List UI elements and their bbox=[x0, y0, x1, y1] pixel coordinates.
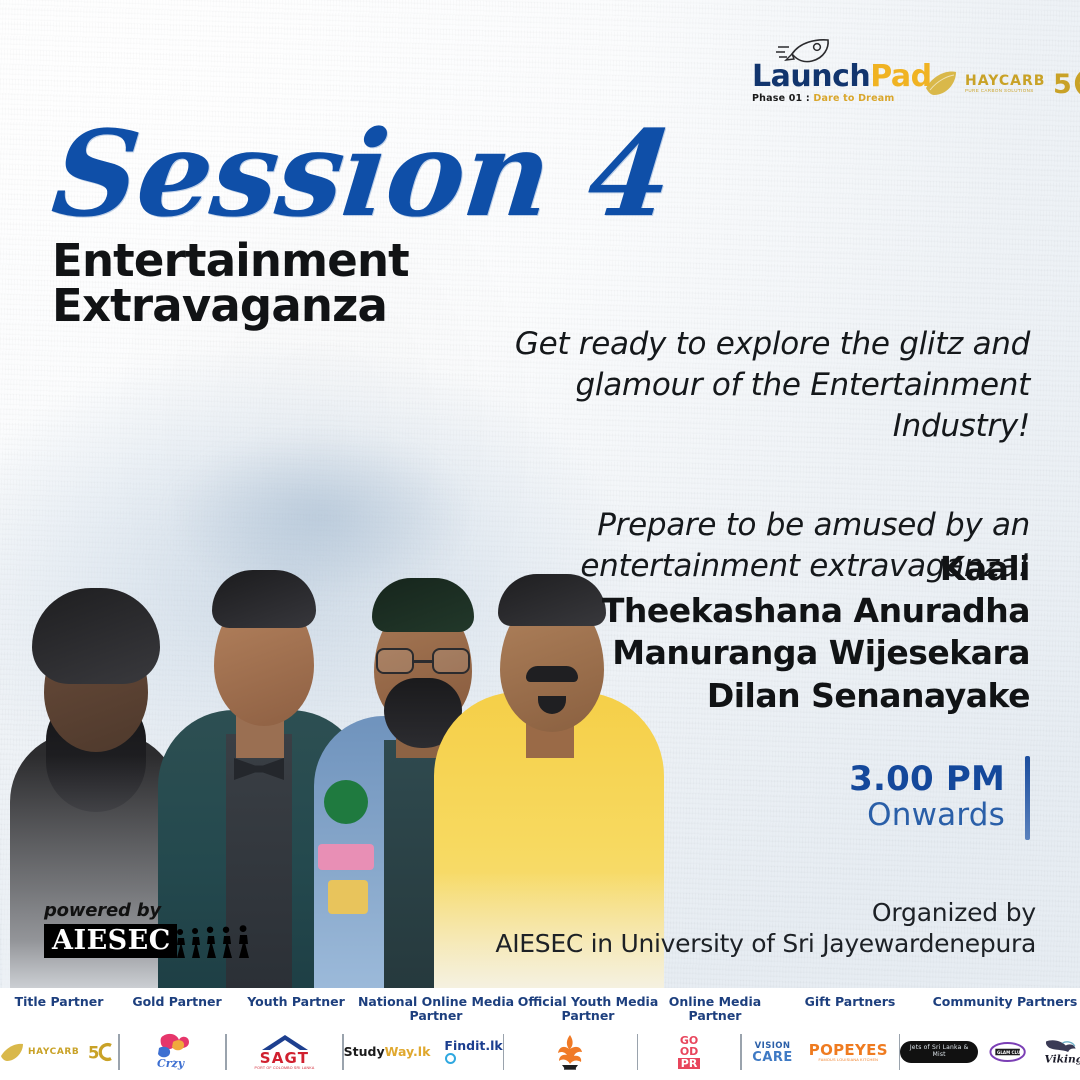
vision-care-word-2: CARE bbox=[752, 1051, 793, 1064]
aiesec-logo: AIESEC bbox=[44, 924, 274, 958]
glam-club-logo: GLAM CLUB bbox=[988, 1039, 1027, 1065]
partner-logos-gift: VISION CARE POPEYES FAMOUS LOUISIANA KIT… bbox=[742, 1028, 899, 1076]
haycarb-50-icon: 5 bbox=[1052, 65, 1080, 101]
haycarb-logo-footer: HAYCARB bbox=[0, 1042, 79, 1062]
haycarb-tagline: PURE CARBON SOLUTIONS bbox=[965, 88, 1045, 93]
speaker-name: Theekashana Anuradha bbox=[430, 590, 1030, 632]
partner-logos-gold: Crzy bbox=[120, 1028, 226, 1076]
speaker-name-list: Kaali Theekashana Anuradha Manuranga Wij… bbox=[430, 548, 1030, 717]
launchpad-logo: LaunchPad Phase 01 : Dare to Dream bbox=[752, 62, 904, 104]
header-logo-bar: LaunchPad Phase 01 : Dare to Dream HAYCA… bbox=[752, 52, 1052, 114]
haycarb-50-icon-footer: 5 bbox=[88, 1039, 118, 1065]
popeyes-tagline: FAMOUS LOUISIANA KITCHEN bbox=[809, 1058, 888, 1062]
event-time-block: 3.00 PM Onwards bbox=[849, 756, 1030, 840]
time-accent-bar bbox=[1025, 756, 1030, 840]
svg-text:GLAM CLUB: GLAM CLUB bbox=[997, 1050, 1023, 1055]
svg-text:Crzy: Crzy bbox=[157, 1057, 186, 1070]
goodpr-line-3: PR bbox=[678, 1058, 701, 1069]
partner-label-official-youth: Official Youth Media Partner bbox=[516, 992, 660, 1024]
page-title: Session 4 bbox=[48, 118, 700, 230]
svg-text:5: 5 bbox=[88, 1044, 99, 1063]
organized-by-label: Organized by bbox=[416, 898, 1036, 928]
partner-label-online-media: Online Media Partner bbox=[660, 992, 770, 1024]
crazy-logo: Crzy bbox=[151, 1032, 193, 1072]
partner-label-community: Community Partners bbox=[930, 992, 1080, 1009]
tagline-one: Get ready to explore the glitz and glamo… bbox=[430, 324, 1030, 447]
partner-logos-national-media: StudyWay.lk Findit.lk bbox=[344, 1028, 503, 1076]
partner-label-title: Title Partner bbox=[0, 992, 118, 1009]
partner-label-youth: Youth Partner bbox=[236, 992, 356, 1009]
tagline-one-line-2: glamour of the Entertainment Industry! bbox=[430, 365, 1030, 447]
partner-label-gold: Gold Partner bbox=[118, 992, 236, 1009]
goodpr-logo: GO OD PR bbox=[678, 1035, 701, 1069]
partner-logos-community: Jets of Sri Lanka & Mist GLAM CLUB Vikin… bbox=[900, 1028, 1080, 1076]
title-block: Session 4 Entertainment Extravaganza bbox=[48, 118, 688, 328]
partner-logos-youth: SAGT PORT OF COLOMBO SRI LANKA bbox=[227, 1028, 342, 1076]
magnifier-icon bbox=[445, 1053, 456, 1064]
sagt-wordmark: SAGT bbox=[255, 1051, 315, 1066]
speaker-name: Kaali bbox=[430, 548, 1030, 590]
vision-care-logo: VISION CARE bbox=[752, 1041, 793, 1064]
studyway-word-1: Study bbox=[344, 1044, 385, 1059]
poster-canvas: LaunchPad Phase 01 : Dare to Dream HAYCA… bbox=[0, 0, 1080, 1080]
partner-logo-row: HAYCARB 5 Crzy bbox=[0, 1024, 1080, 1080]
vision-care-word-1: VISION bbox=[752, 1041, 793, 1051]
vikings-logo: Vikings bbox=[1038, 1035, 1080, 1069]
findit-wordmark: Findit.lk bbox=[444, 1038, 502, 1053]
lanka-mist-logo: Jets of Sri Lanka & Mist bbox=[900, 1041, 978, 1062]
aiesec-people-icon bbox=[173, 924, 257, 958]
studyway-word-2: Way.lk bbox=[385, 1044, 431, 1059]
launchpad-word-launch: Launch bbox=[752, 59, 870, 94]
popeyes-logo: POPEYES FAMOUS LOUISIANA KITCHEN bbox=[809, 1043, 888, 1062]
aiesec-wordmark: AIESEC bbox=[44, 924, 177, 958]
rocket-icon bbox=[776, 38, 836, 64]
partner-footer: Title Partner Gold Partner Youth Partner… bbox=[0, 988, 1080, 1080]
haycarb-wordmark-footer: HAYCARB bbox=[28, 1047, 79, 1057]
findit-logo: Findit.lk bbox=[444, 1040, 502, 1065]
sagt-tagline: PORT OF COLOMBO SRI LANKA bbox=[255, 1066, 315, 1070]
svg-text:Vikings: Vikings bbox=[1044, 1053, 1080, 1066]
powered-by-block: powered by AIESEC bbox=[44, 900, 274, 958]
haycarb-leaf-icon bbox=[0, 1042, 24, 1062]
event-time-onwards: Onwards bbox=[849, 798, 1005, 834]
speaker-name: Dilan Senanayake bbox=[430, 675, 1030, 717]
haycarb-wordmark: HAYCARB bbox=[965, 74, 1045, 88]
haycarb-logo: HAYCARB PURE CARBON SOLUTIONS 5 bbox=[924, 65, 1080, 101]
page-subtitle: Entertainment Extravaganza bbox=[52, 238, 688, 328]
tagline-two-line-1: Prepare to be amused by an bbox=[430, 505, 1030, 546]
partner-label-gift: Gift Partners bbox=[770, 992, 930, 1009]
event-time: 3.00 PM bbox=[849, 762, 1005, 798]
launchpad-tagline: Dare to Dream bbox=[813, 93, 894, 104]
partner-label-national-media: National Online Media Partner bbox=[356, 992, 516, 1024]
organizer-name: AIESEC in University of Sri Jayewardenep… bbox=[416, 928, 1036, 959]
partner-label-row: Title Partner Gold Partner Youth Partner… bbox=[0, 992, 1080, 1026]
svg-text:5: 5 bbox=[1053, 69, 1072, 100]
phoenix-logo bbox=[550, 1032, 590, 1072]
partner-logos-title: HAYCARB 5 bbox=[0, 1028, 118, 1076]
studyway-logo: StudyWay.lk bbox=[344, 1046, 431, 1059]
organizer-block: Organized by AIESEC in University of Sri… bbox=[416, 898, 1036, 959]
powered-by-label: powered by bbox=[44, 900, 274, 921]
partner-logos-official-youth bbox=[504, 1028, 636, 1076]
launchpad-word-pad: Pad bbox=[870, 59, 931, 94]
sagt-logo: SAGT PORT OF COLOMBO SRI LANKA bbox=[255, 1034, 315, 1070]
popeyes-wordmark: POPEYES bbox=[809, 1043, 888, 1058]
partner-logos-online-media: GO OD PR bbox=[638, 1028, 740, 1076]
tagline-one-line-1: Get ready to explore the glitz and bbox=[430, 324, 1030, 365]
launchpad-phase: Phase 01 : bbox=[752, 93, 813, 104]
speaker-name: Manuranga Wijesekara bbox=[430, 632, 1030, 674]
